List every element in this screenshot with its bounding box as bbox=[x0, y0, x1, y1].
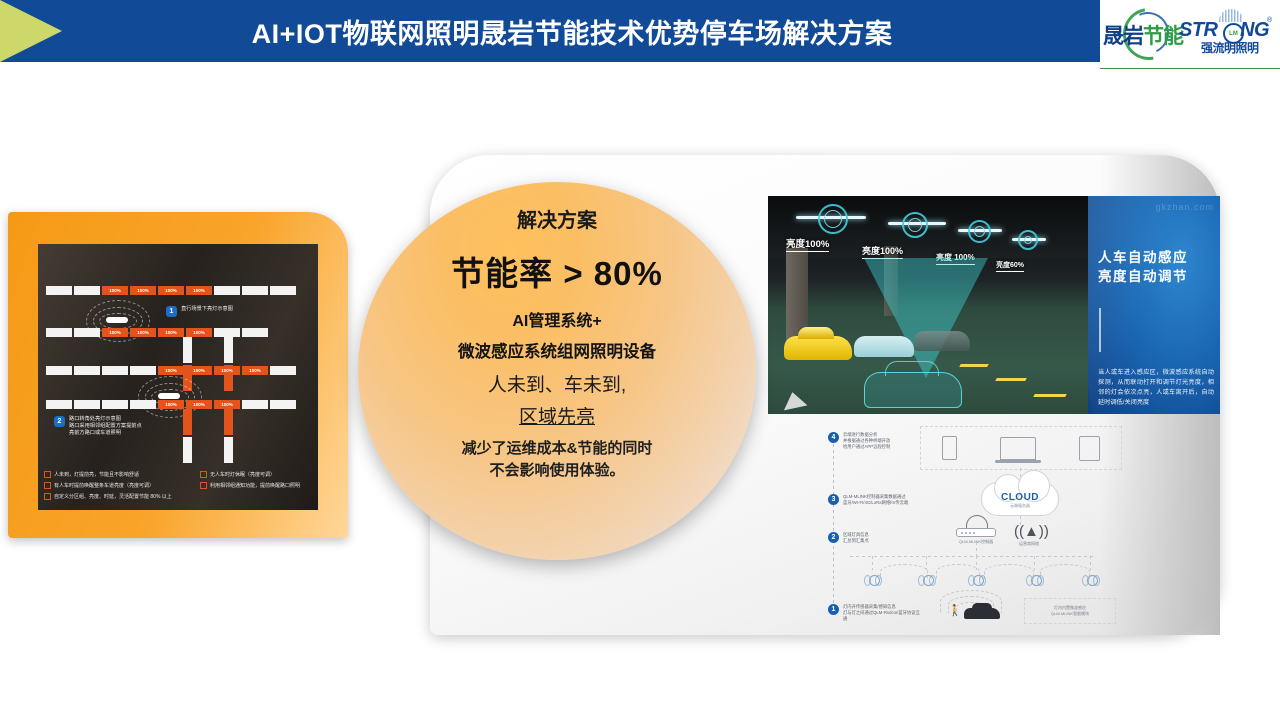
lamp-wave-right-icon bbox=[875, 575, 882, 586]
lane-segment bbox=[102, 366, 128, 375]
lane-segment bbox=[130, 400, 156, 409]
annotation-number: 1 bbox=[166, 306, 177, 317]
lane-row-2: 100% 100% 100% 100% bbox=[46, 328, 268, 337]
legend-item: 利用相邻组通知功能，提前唤醒路口照明 bbox=[200, 482, 300, 489]
lamp-node bbox=[918, 574, 934, 586]
client-devices-group bbox=[920, 426, 1122, 470]
car-white-highlighted bbox=[854, 336, 914, 357]
lamp-module-note: 灯内内置微波感应 QLM-MLINK智能模块 bbox=[1024, 598, 1116, 624]
cloud-label: CLOUD bbox=[981, 492, 1059, 503]
lane-segment-active: 100% bbox=[158, 286, 184, 295]
floor-arrow-icon bbox=[781, 390, 808, 411]
lane-segment-active bbox=[183, 409, 192, 435]
step-text: 灯内开传感器采集/感知信息 灯与灯之间通过QLM-Rsdcon蓝牙协议互通 bbox=[843, 604, 920, 622]
vertical-lane-right bbox=[224, 337, 233, 391]
feature-title: 人车自动感应 亮度自动调节 bbox=[1098, 248, 1188, 286]
floor-marking bbox=[995, 378, 1027, 381]
lane-segment-active: 100% bbox=[102, 328, 128, 337]
sensor-ring-icon bbox=[968, 220, 991, 243]
feature-info-panel: gkzhan.com 人车自动感应 亮度自动调节 当人或车进入感应区，微波感应系… bbox=[1088, 196, 1220, 414]
legend-marker-icon bbox=[200, 482, 207, 489]
callout-line-5: 减少了运维成本&节能的同时 不会影响使用体验。 bbox=[462, 438, 653, 482]
legend-item: 自定义分区组、亮度、时延，灵活配置节能 80% 以上 bbox=[44, 493, 172, 500]
cloud-sublabel: 云端服务器 bbox=[981, 503, 1059, 509]
legend-label: 利用相邻组通知功能，提前唤醒路口照明 bbox=[210, 482, 300, 489]
lane-segment bbox=[270, 400, 296, 409]
sensor-ring-icon bbox=[1018, 230, 1038, 250]
lane-segment bbox=[74, 328, 100, 337]
network-step-1: 1 灯内开传感器采集/感知信息 灯与灯之间通过QLM-Rsdcon蓝牙协议互通 bbox=[828, 604, 920, 622]
lane-segment-active: 100% bbox=[214, 366, 240, 375]
legend-marker-icon bbox=[44, 482, 51, 489]
lane-segment-active: 100% bbox=[158, 328, 184, 337]
step-text: 云端进行数据分析 并根据通过各种终端开放 给用户通过APP远程控制 bbox=[843, 432, 890, 450]
legend-label: 有人车时提前唤醒整条车道亮度（亮度可调） bbox=[54, 482, 154, 489]
lane-segment bbox=[183, 337, 192, 363]
lane-segment-active: 100% bbox=[130, 286, 156, 295]
lane-segment bbox=[242, 400, 268, 409]
smartphone-icon bbox=[942, 436, 957, 460]
lane-segment bbox=[183, 437, 192, 463]
step-number: 2 bbox=[828, 532, 839, 543]
lane-segment-active: 100% bbox=[242, 366, 268, 375]
lane-segment bbox=[46, 366, 72, 375]
lane-segment bbox=[224, 337, 233, 363]
callout-line-1: AI管理系统+ bbox=[512, 307, 601, 331]
annotation-number: 2 bbox=[54, 416, 65, 427]
lane-segment-active: 100% bbox=[102, 286, 128, 295]
connector-line bbox=[1034, 556, 1035, 570]
sensor-ring-icon bbox=[902, 212, 928, 238]
brand-logo: 晟岩节能 STR LM NG ® 强流明照明 bbox=[1100, 0, 1280, 69]
network-architecture-diagram: 4 云端进行数据分析 并根据通过各种终端开放 给用户通过APP远程控制 3 QL… bbox=[828, 424, 1130, 624]
title-divider bbox=[1099, 308, 1101, 352]
lane-segment-active: 100% bbox=[158, 366, 184, 375]
lane-segment-active bbox=[224, 409, 233, 435]
callout-line-4: 区域先亮 bbox=[519, 402, 595, 429]
brightness-label-1: 亮度100% bbox=[786, 236, 829, 252]
lane-segment bbox=[74, 286, 100, 295]
brightness-value: 亮度100% bbox=[786, 239, 829, 250]
lane-segment bbox=[270, 286, 296, 295]
lane-segment-active: 100% bbox=[186, 286, 212, 295]
watermark-text: gkzhan.com bbox=[1155, 202, 1214, 212]
sensor-ring-icon bbox=[818, 204, 848, 234]
slide-root: AI+IOT物联网照明晟岩节能技术优势停车场解决方案 晟岩节能 STR LM N… bbox=[0, 0, 1280, 720]
wifi-icon bbox=[966, 515, 988, 528]
feature-body-text: 当人或车进入感应区，微波感应系统自动探测，从而联动打开和调节灯光亮度，相邻的灯会… bbox=[1098, 368, 1214, 408]
chevron-right-icon bbox=[0, 0, 62, 62]
lamp-wave-right-icon bbox=[979, 575, 986, 586]
legend-label: 人未到，灯提前亮，节能且不影响舒适 bbox=[54, 471, 139, 478]
legend-row: 自定义分区组、亮度、时延，灵活配置节能 80% 以上 bbox=[44, 493, 312, 500]
lane-segment bbox=[130, 366, 156, 375]
network-step-4: 4 云端进行数据分析 并根据通过各种终端开放 给用户通过APP远程控制 bbox=[828, 432, 912, 450]
diagram-annotation-1: 1 直行场景下亮灯示意图 bbox=[166, 306, 306, 317]
floor-marking bbox=[1033, 394, 1067, 397]
car-yellow bbox=[784, 336, 852, 360]
annotation-text: 直行场景下亮灯示意图 bbox=[181, 306, 233, 313]
step-text: QLM-MLINK控制器采集数据通过 蓝牙/WI-FI/4G/LoRa网络frn… bbox=[843, 494, 908, 506]
callout-headline: 节能率 > 80% bbox=[451, 247, 663, 295]
callout-line-2: 微波感应系统组网照明设备 bbox=[458, 338, 656, 362]
logo-lm-text: LM bbox=[1229, 31, 1238, 37]
lamp-wave-right-icon bbox=[1093, 575, 1100, 586]
legend-item: 人未到，灯提前亮，节能且不影响舒适 bbox=[44, 471, 194, 478]
annotation-text: 路口转角处亮灯示意图 路口采用相邻组配置方案提前点 亮前方路口或车道照明 bbox=[69, 416, 142, 438]
lane-segment-active: 100% bbox=[186, 400, 212, 409]
tablet-icon bbox=[1079, 436, 1100, 461]
car-wireframe-hologram bbox=[864, 372, 962, 408]
lane-segment bbox=[242, 286, 268, 295]
legend-marker-icon bbox=[44, 471, 51, 478]
note-text: 灯内内置微波感应 QLM-MLINK智能模块 bbox=[1051, 605, 1089, 617]
diagram-legend: 人未到，灯提前亮，节能且不影响舒适 无人车时灯休眠（亮度可调） 有人车时提前唤醒… bbox=[44, 471, 312, 504]
lane-segment bbox=[46, 286, 72, 295]
lane-segment bbox=[46, 328, 72, 337]
connector-line bbox=[976, 542, 977, 556]
floor-marking bbox=[959, 364, 989, 367]
legend-marker-icon bbox=[200, 471, 207, 478]
lamp-node bbox=[1026, 574, 1042, 586]
car-grey bbox=[914, 331, 970, 351]
legend-label: 自定义分区组、亮度、时延，灵活配置节能 80% 以上 bbox=[54, 493, 172, 500]
logo-cn-dark: 晟岩 bbox=[1103, 25, 1143, 48]
car-icon bbox=[964, 608, 1000, 619]
vertical-lane-right-2 bbox=[224, 409, 233, 463]
step-number: 1 bbox=[828, 604, 839, 615]
lane-segment-active: 100% bbox=[214, 400, 240, 409]
legend-item: 无人车时灯休眠（亮度可调） bbox=[200, 471, 275, 478]
callout-line-3: 人未到、车未到, bbox=[488, 370, 626, 397]
diagram-spine bbox=[833, 438, 834, 614]
legend-marker-icon bbox=[44, 493, 51, 500]
lane-segment bbox=[214, 328, 240, 337]
parking-garage-photo: 亮度100% 亮度100% 亮度 100% 亮度60% bbox=[768, 196, 1088, 414]
lane-row-1: 100% 100% 100% 100% bbox=[46, 286, 296, 295]
registered-icon: ® bbox=[1267, 17, 1272, 24]
callout-title: 解决方案 bbox=[517, 204, 597, 233]
lane-row-3: 100% 100% 100% 100% bbox=[46, 366, 296, 375]
lamp-node-active bbox=[968, 574, 984, 586]
connector-line bbox=[1090, 556, 1091, 570]
network-step-3: 3 QLM-MLINK控制器采集数据通过 蓝牙/WI-FI/4G/LoRa网络f… bbox=[828, 494, 912, 506]
cell-tower-node: ((▲)) 运营商网络 bbox=[1014, 524, 1044, 547]
lane-segment bbox=[74, 400, 100, 409]
lane-segment-active: 100% bbox=[186, 328, 212, 337]
legend-row: 人未到，灯提前亮，节能且不影响舒适 无人车时灯休眠（亮度可调） bbox=[44, 471, 312, 478]
lane-segment-active: 100% bbox=[158, 400, 184, 409]
page-title: AI+IOT物联网照明晟岩节能技术优势停车场解决方案 bbox=[62, 0, 1082, 62]
laptop-icon bbox=[1000, 437, 1036, 460]
lane-row-4: 100% 100% 100% bbox=[46, 400, 296, 409]
connector-line bbox=[872, 556, 873, 570]
sensing-cone bbox=[864, 258, 988, 378]
lamp-wave-right-icon bbox=[1037, 575, 1044, 586]
lamp-node bbox=[864, 574, 880, 586]
lane-segment bbox=[270, 366, 296, 375]
brightness-label-2: 亮度100% bbox=[862, 244, 903, 259]
brightness-value: 亮度60% bbox=[996, 262, 1024, 269]
bus-line bbox=[850, 556, 1096, 557]
lamp-node bbox=[1082, 574, 1098, 586]
step-number: 3 bbox=[828, 494, 839, 505]
car-icon bbox=[158, 393, 180, 399]
lane-segment bbox=[46, 400, 72, 409]
lane-segment-active: 100% bbox=[130, 328, 156, 337]
router-icon bbox=[956, 528, 996, 537]
brightness-label-4: 亮度60% bbox=[996, 260, 1024, 272]
step-number: 4 bbox=[828, 432, 839, 443]
lamp-wave-right-icon bbox=[929, 575, 936, 586]
logo-tagline: 强流明照明 bbox=[1201, 39, 1259, 56]
logo-chinese-name: 晟岩节能 bbox=[1103, 20, 1183, 50]
solution-callout-ellipse: 解决方案 节能率 > 80% AI管理系统+ 微波感应系统组网照明设备 人未到、… bbox=[358, 182, 756, 560]
diagram-annotation-2: 2 路口转角处亮灯示意图 路口采用相邻组配置方案提前点 亮前方路口或车道照明 bbox=[54, 416, 164, 438]
lane-segment-active: 100% bbox=[186, 366, 212, 375]
pedestrian-icon: 🚶 bbox=[948, 606, 962, 617]
lane-segment bbox=[102, 400, 128, 409]
cell-tower-icon: ((▲)) bbox=[1014, 524, 1044, 539]
brightness-value: 亮度100% bbox=[862, 246, 903, 256]
car-icon bbox=[106, 317, 128, 323]
step-text: 区域灯具信息 汇总到汇集点 bbox=[843, 532, 869, 544]
parking-lighting-diagram: 100% 100% 100% 100% 1 直行场景下亮灯示意图 100% 10… bbox=[38, 244, 318, 510]
cloud-node: CLOUD 云端服务器 bbox=[981, 482, 1059, 516]
lane-segment bbox=[214, 286, 240, 295]
legend-row: 有人车时提前唤醒整条车道亮度（亮度可调） 利用相邻组通知功能，提前唤醒路口照明 bbox=[44, 482, 312, 489]
logo-cn-green: 节能 bbox=[1143, 25, 1183, 48]
legend-label: 无人车时灯休眠（亮度可调） bbox=[210, 471, 275, 478]
left-orange-panel: 100% 100% 100% 100% 1 直行场景下亮灯示意图 100% 10… bbox=[8, 212, 348, 538]
lane-segment bbox=[224, 437, 233, 463]
lane-segment bbox=[242, 328, 268, 337]
tower-label: 运营商网络 bbox=[1014, 541, 1044, 547]
legend-item: 有人车时提前唤醒整条车道亮度（亮度可调） bbox=[44, 482, 194, 489]
vertical-lane-left-2 bbox=[183, 409, 192, 463]
network-step-2: 2 区域灯具信息 汇总到汇集点 bbox=[828, 532, 912, 544]
lane-segment bbox=[74, 366, 100, 375]
header-bar: AI+IOT物联网照明晟岩节能技术优势停车场解决方案 bbox=[0, 0, 1100, 62]
